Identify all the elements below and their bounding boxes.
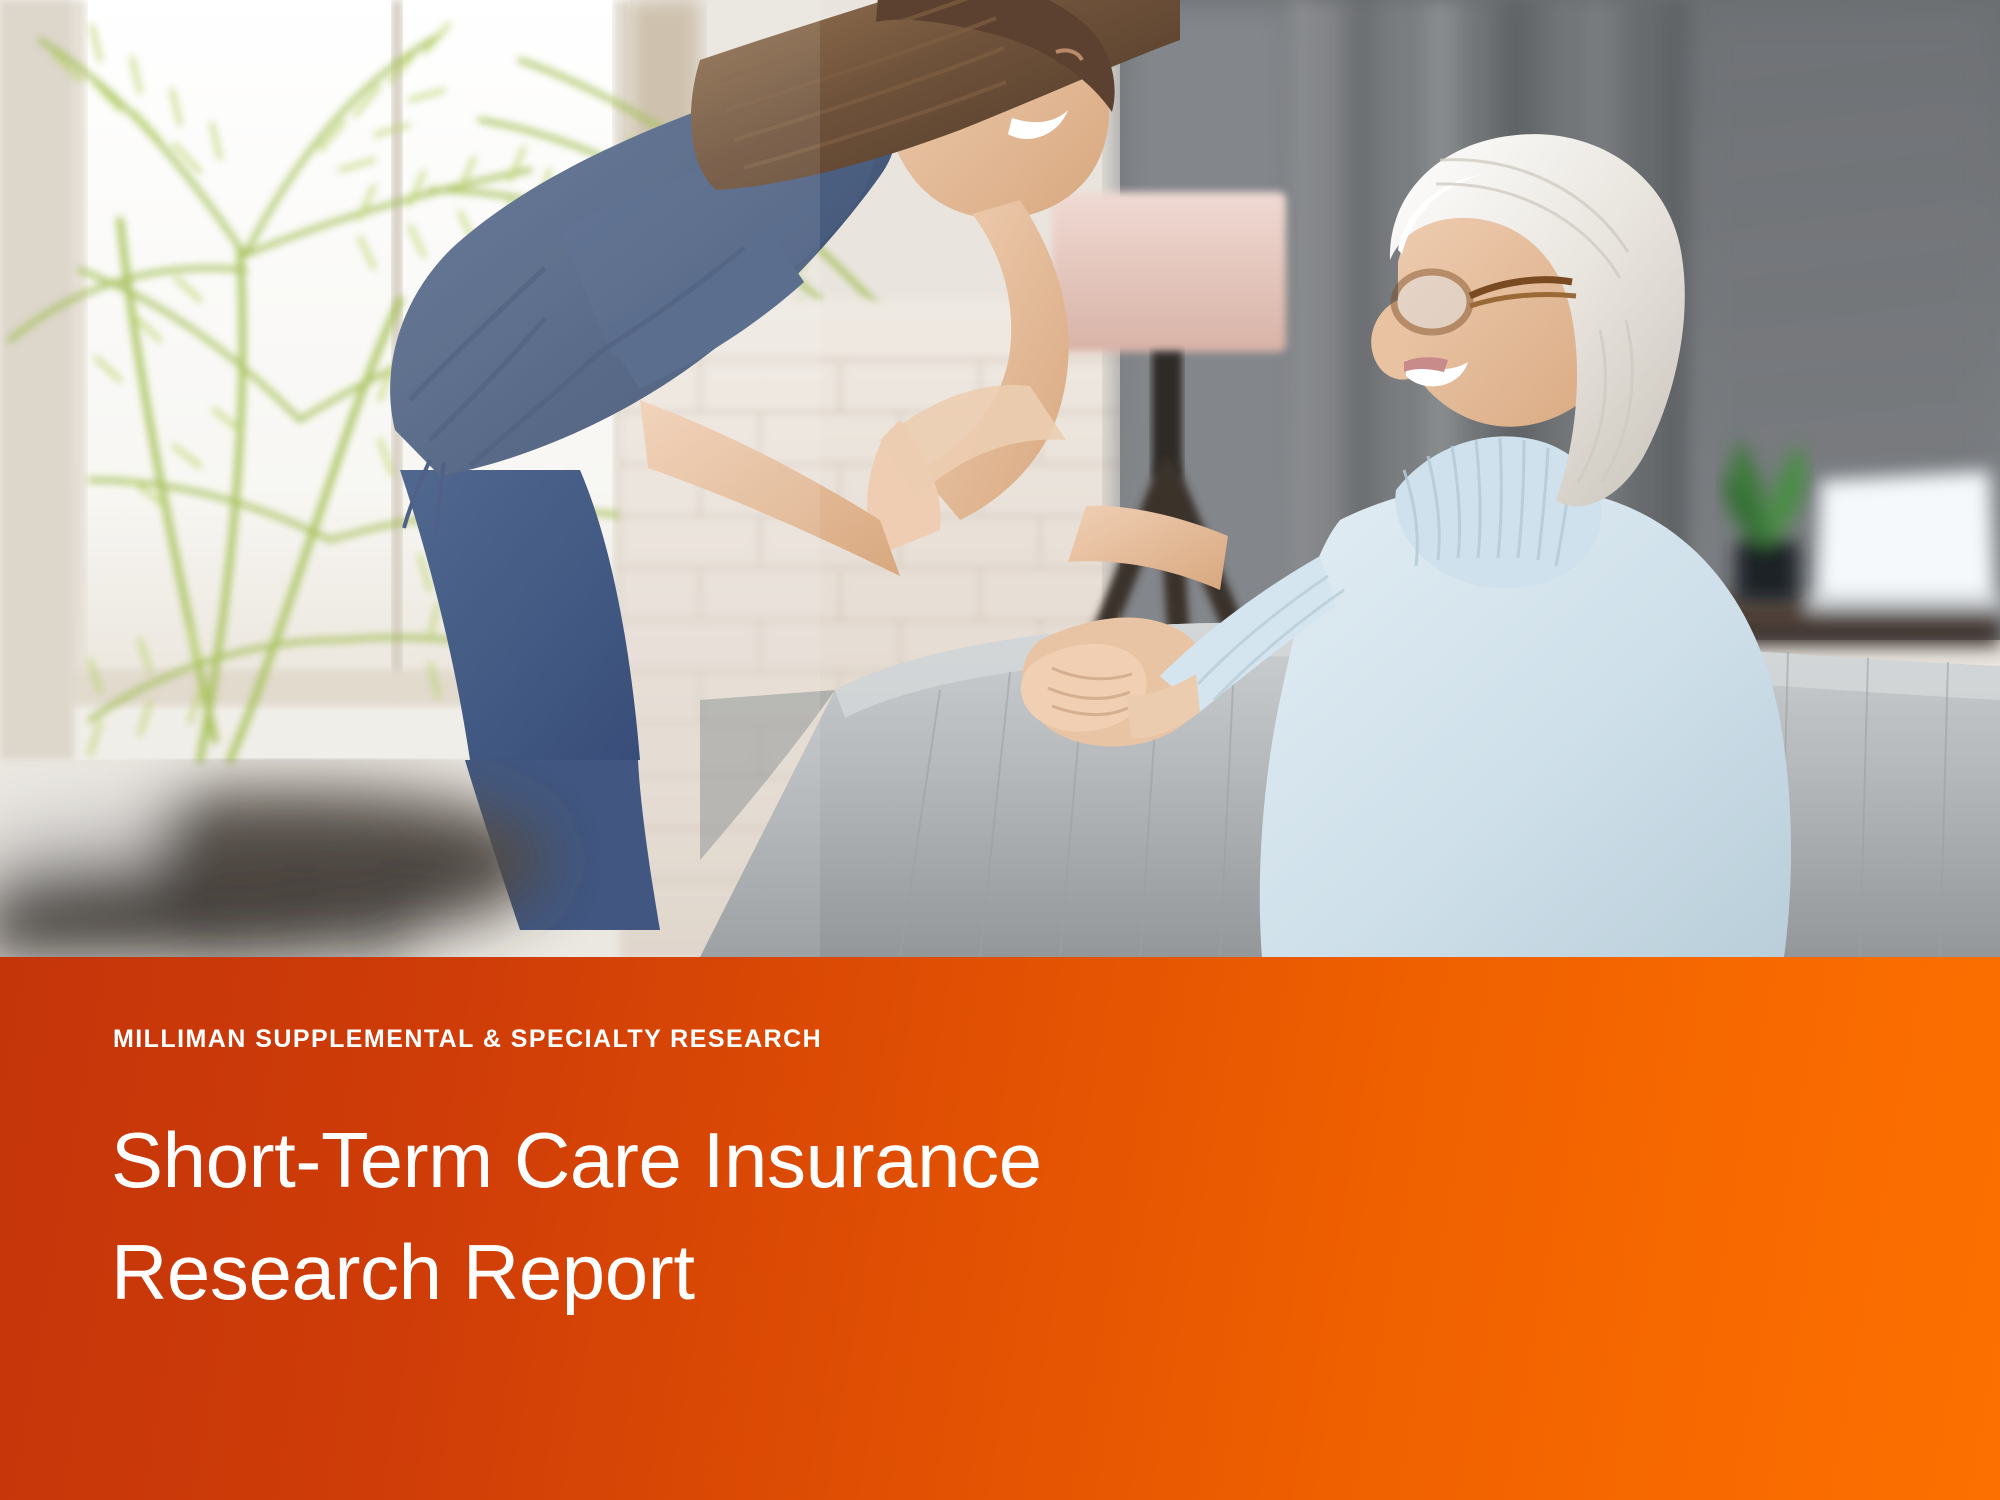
- page-title-line-1: Short-Term Care Insurance: [111, 1104, 1611, 1216]
- page-title: Short-Term Care Insurance Research Repor…: [111, 1104, 1611, 1328]
- page-title-line-2: Research Report: [111, 1216, 1611, 1328]
- eyebrow-series-label: MILLIMAN SUPPLEMENTAL & SPECIALTY RESEAR…: [113, 1027, 822, 1052]
- hero-photo-illustration: [0, 0, 2000, 957]
- report-cover-page: MILLIMAN SUPPLEMENTAL & SPECIALTY RESEAR…: [0, 0, 2000, 1500]
- hero-photograph: [0, 0, 2000, 957]
